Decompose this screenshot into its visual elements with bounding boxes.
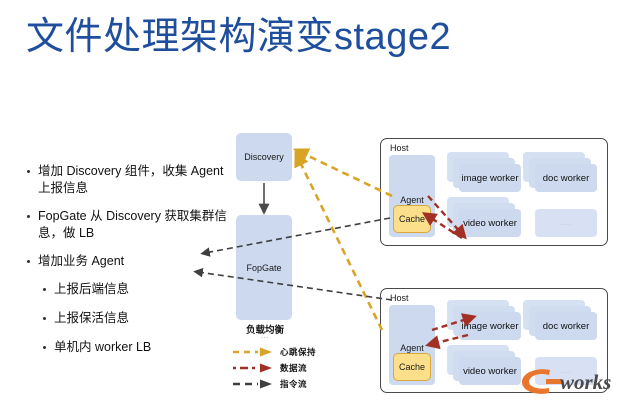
worker-card-front: doc worker xyxy=(535,312,597,340)
cache-node: Cache xyxy=(393,353,431,381)
worker-stack-doc: c c doc worker xyxy=(523,152,597,192)
list-item: 上报后端信息 xyxy=(24,281,229,298)
list-item: 单机内 worker LB xyxy=(24,339,229,356)
arrow-command-top xyxy=(205,218,390,253)
worker-stack-video: video video video worker xyxy=(447,197,521,237)
list-item: 上报保活信息 xyxy=(24,310,229,327)
agent-node: Agent Cache xyxy=(389,305,435,385)
fopgate-node: FopGate xyxy=(236,215,292,320)
legend-swatch-commandflow xyxy=(232,379,274,389)
cache-node: Cache xyxy=(393,205,431,233)
legend-label-dataflow: 数据流 xyxy=(280,362,307,374)
legend-swatch-dataflow xyxy=(232,363,274,373)
list-item: FopGate 从 Discovery 获取集群信息，做 LB xyxy=(24,208,229,242)
bullet-list: 增加 Discovery 组件，收集 Agent 上报信息 FopGate 从 … xyxy=(24,163,229,368)
worker-card-front: image worker xyxy=(459,164,521,192)
arrow-heartbeat-top xyxy=(300,152,392,196)
worker-card-front: video worker xyxy=(459,209,521,237)
legend-row-heartbeat: 心跳保持 xyxy=(232,344,316,360)
worker-card-front: doc worker xyxy=(535,164,597,192)
worker-stack-image: image image image worker xyxy=(447,300,521,340)
agent-node: Agent Cache xyxy=(389,155,435,237)
legend-label-commandflow: 指令流 xyxy=(280,378,307,390)
worker-stack-video: video video video worker xyxy=(447,345,521,385)
legend-row-commandflow: 指令流 xyxy=(232,376,316,392)
legend-row-dataflow: 数据流 xyxy=(232,360,316,376)
load-balance-sublabel: ... xyxy=(231,334,299,340)
watermark-text: works xyxy=(560,370,611,394)
slide-canvas: 文件处理架构演变stage2 增加 Discovery 组件，收集 Agent … xyxy=(0,0,620,405)
host-box-top: Host Agent Cache image image image worke… xyxy=(380,138,608,246)
list-item: 增加业务 Agent xyxy=(24,253,229,270)
agent-label: Agent xyxy=(389,195,435,205)
worker-card-front: image worker xyxy=(459,312,521,340)
legend-label-heartbeat: 心跳保持 xyxy=(280,346,316,358)
worker-card-front: video worker xyxy=(459,357,521,385)
discovery-node: Discovery xyxy=(236,133,292,181)
page-title: 文件处理架构演变stage2 xyxy=(26,14,451,60)
worker-card-other: .... xyxy=(535,209,597,237)
worker-stack-doc: c c doc worker xyxy=(523,300,597,340)
eworks-watermark: works xyxy=(516,364,614,398)
worker-stack-image: image image image worker xyxy=(447,152,521,192)
host-label: Host xyxy=(390,293,409,303)
legend: 心跳保持 数据流 指令流 xyxy=(232,344,316,392)
list-item: 增加 Discovery 组件，收集 Agent 上报信息 xyxy=(24,163,229,197)
host-label: Host xyxy=(390,143,409,153)
agent-label: Agent xyxy=(389,343,435,353)
arrow-heartbeat-bottom xyxy=(298,158,382,330)
legend-swatch-heartbeat xyxy=(232,347,274,357)
